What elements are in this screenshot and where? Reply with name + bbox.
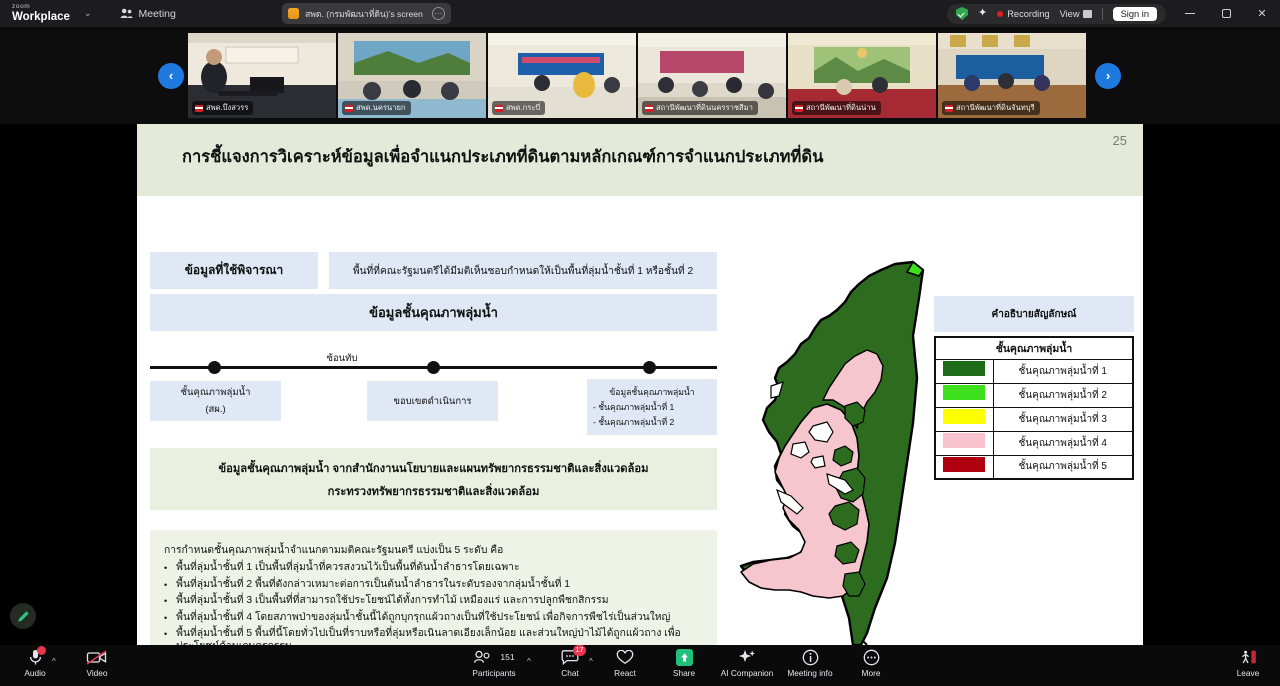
view-button[interactable]: View bbox=[1060, 9, 1092, 19]
box-d-line-1: ชั้นคุณภาพลุ่มน้ำ bbox=[181, 385, 251, 400]
toolbar-ai-companion-label: AI Companion bbox=[721, 668, 774, 678]
participant-nameplate: สพด.กระบี่ bbox=[492, 101, 545, 115]
shared-screen-tab[interactable]: สพด. (กรมพัฒนาที่ดิน)'s screen ··· bbox=[282, 3, 451, 24]
box-f-line-2: - ชั้นคุณภาพลุ่มน้ำที่ 2 bbox=[593, 415, 674, 429]
box-f-title: ข้อมูลชั้นคุณภาพลุ่มน้ำ bbox=[609, 385, 694, 399]
axis-node-1-icon bbox=[208, 361, 221, 374]
box-a-label: ข้อมูลที่ใช้พิจารณา bbox=[185, 261, 284, 280]
toolbar-participants[interactable]: 151 Participants bbox=[463, 648, 525, 678]
page-title: การชี้แจงการวิเคราะห์ข้อมูลเพื่อจำแนกประ… bbox=[182, 144, 823, 170]
video-off-icon bbox=[86, 648, 108, 666]
bullet-icon: • bbox=[164, 579, 167, 592]
ai-sparkle-icon[interactable]: ✦ bbox=[978, 8, 987, 19]
axis-node-3-icon bbox=[643, 361, 656, 374]
participant-name: สพด.นครนายก bbox=[356, 102, 406, 114]
recording-status: Recording bbox=[997, 9, 1049, 19]
participant-nameplate: สถานีพัฒนาที่ดินนครราชสีมา bbox=[642, 101, 758, 115]
zoom-wordmark: zoom bbox=[12, 4, 70, 11]
diagram-box-cabinet-resolution: พื้นที่ที่คณะรัฐมนตรีได้มีมติเห็นชอบกำหน… bbox=[329, 252, 717, 289]
list-item-text: พื้นที่ลุ่มน้ำชั้นที่ 2 พื้นที่ดังกล่าวเ… bbox=[176, 579, 570, 592]
list-item: • พื้นที่ลุ่มน้ำชั้นที่ 1 เป็นพื้นที่ลุ่… bbox=[164, 562, 705, 575]
list-item: • พื้นที่ลุ่มน้ำชั้นที่ 4 โดยสภาพป่าของล… bbox=[164, 612, 705, 625]
chat-icon: 17 bbox=[561, 648, 579, 666]
axis-node-2-icon bbox=[427, 361, 440, 374]
legend-row: ชั้นคุณภาพลุ่มน้ำที่ 2 bbox=[935, 383, 1133, 407]
divider bbox=[1102, 8, 1103, 20]
toolbar-meeting-info-label: Meeting info bbox=[787, 668, 832, 678]
participant-nameplate: สพด.บึงสวรร bbox=[192, 101, 253, 115]
participant-name: สถานีพัฒนาที่ดินนครราชสีมา bbox=[656, 102, 753, 114]
title-bar: zoom Workplace ⌄ Meeting สพด. (กรมพัฒนาท… bbox=[0, 0, 1280, 27]
presentation-slide: การชี้แจงการวิเคราะห์ข้อมูลเพื่อจำแนกประ… bbox=[137, 124, 1143, 645]
shared-screen-label: สพด. (กรมพัฒนาที่ดิน)'s screen bbox=[305, 7, 423, 21]
recording-label: Recording bbox=[1007, 9, 1049, 19]
watershed-levels-list: การกำหนดชั้นคุณภาพลุ่มน้ำจำแนกตามมติคณะร… bbox=[150, 530, 717, 645]
legend-row: ชั้นคุณภาพลุ่มน้ำที่ 1 bbox=[935, 359, 1133, 383]
info-icon bbox=[802, 648, 819, 666]
heart-icon bbox=[616, 648, 634, 666]
slide-body: ข้อมูลที่ใช้พิจารณา พื้นที่ที่คณะรัฐมนตร… bbox=[137, 196, 1143, 645]
people-glyph bbox=[120, 8, 133, 19]
toolbar-participants-label: Participants bbox=[472, 668, 515, 678]
flag-icon bbox=[645, 105, 653, 112]
participant-name: สพด.บึงสวรร bbox=[206, 102, 248, 114]
box-b-label: พื้นที่ที่คณะรัฐมนตรีได้มีมติเห็นชอบกำหน… bbox=[353, 263, 693, 279]
list-heading: การกำหนดชั้นคุณภาพลุ่มน้ำจำแนกตามมติคณะร… bbox=[164, 541, 705, 558]
bullet-icon: • bbox=[164, 595, 167, 608]
participant-thumbnail[interactable]: สถานีพัฒนาที่ดินน่าน bbox=[788, 33, 936, 118]
zoom-logo: zoom Workplace bbox=[12, 4, 70, 23]
status-pill: ✦ Recording View Sign in bbox=[947, 4, 1166, 24]
toolbar-leave-label: Leave bbox=[1237, 668, 1260, 678]
box-e-label: ขอบเขตดำเนินการ bbox=[393, 394, 471, 409]
participant-thumbnail[interactable]: สพด.บึงสวรร bbox=[188, 33, 336, 118]
flag-icon bbox=[945, 105, 953, 112]
toolbar-meeting-info[interactable]: Meeting info bbox=[779, 648, 841, 678]
participant-name: สถานีพัฒนาที่ดินน่าน bbox=[806, 102, 876, 114]
layout-grid-icon bbox=[1083, 10, 1092, 18]
slide-number: 25 bbox=[1113, 133, 1127, 148]
legend-swatch-cell bbox=[935, 431, 993, 455]
participant-nameplate: สถานีพัฒนาที่ดินจันทบุรี bbox=[942, 101, 1040, 115]
toolbar-audio[interactable]: Audio bbox=[4, 648, 66, 678]
flag-icon bbox=[345, 105, 353, 112]
diagram-box-watershed-output: ข้อมูลชั้นคุณภาพลุ่มน้ำ - ชั้นคุณภาพลุ่ม… bbox=[587, 379, 717, 435]
participant-thumbnail[interactable]: สถานีพัฒนาที่ดินจันทบุรี bbox=[938, 33, 1086, 118]
diagram-box-watershed-onep: ชั้นคุณภาพลุ่มน้ำ (สผ.) bbox=[150, 381, 281, 421]
chat-unread-badge: 17 bbox=[573, 645, 586, 656]
toolbar-more-label: More bbox=[862, 668, 881, 678]
legend-row: ชั้นคุณภาพลุ่มน้ำที่ 4 bbox=[935, 431, 1133, 455]
source-note-line-2: กระทรวงทรัพยากรธรรมชาติและสิ่งแวดล้อม bbox=[328, 482, 540, 500]
participant-nameplate: สพด.นครนายก bbox=[342, 101, 411, 115]
flag-icon bbox=[795, 105, 803, 112]
bullet-icon: • bbox=[164, 612, 167, 625]
legend-label: ชั้นคุณภาพลุ่มน้ำที่ 5 bbox=[993, 455, 1133, 479]
box-f-line-1: - ชั้นคุณภาพลุ่มน้ำที่ 1 bbox=[593, 400, 674, 414]
legend-color-swatch-3 bbox=[943, 409, 985, 424]
toolbar-ai-companion[interactable]: AI Companion bbox=[716, 648, 778, 678]
participant-thumbnail[interactable]: สพด.กระบี่ bbox=[488, 33, 636, 118]
participant-nameplate: สถานีพัฒนาที่ดินน่าน bbox=[792, 101, 881, 115]
slide-header: การชี้แจงการวิเคราะห์ข้อมูลเพื่อจำแนกประ… bbox=[137, 124, 1143, 196]
chevron-down-icon[interactable]: ⌄ bbox=[84, 8, 92, 19]
legend-label: ชั้นคุณภาพลุ่มน้ำที่ 4 bbox=[993, 431, 1133, 455]
tab-meeting-label: Meeting bbox=[139, 8, 176, 20]
maximize-button[interactable] bbox=[1208, 0, 1244, 27]
toolbar-react[interactable]: React bbox=[594, 648, 656, 678]
chat-options-caret-icon[interactable]: ^ bbox=[589, 657, 593, 666]
toolbar-share-label: Share bbox=[673, 668, 695, 678]
legend-color-swatch-5 bbox=[943, 457, 985, 472]
legend-swatch-cell bbox=[935, 455, 993, 479]
shield-check-icon[interactable] bbox=[956, 7, 968, 20]
audio-alert-badge bbox=[37, 646, 46, 655]
ai-sparkle-icon bbox=[737, 648, 757, 666]
zoom-window: zoom Workplace ⌄ Meeting สพด. (กรมพัฒนาท… bbox=[0, 0, 1280, 686]
box-d-line-2: (สผ.) bbox=[205, 402, 225, 417]
audio-options-caret-icon[interactable]: ^ bbox=[52, 657, 56, 666]
window-controls: ✕ bbox=[1172, 0, 1280, 27]
legend-color-swatch-1 bbox=[943, 361, 985, 376]
toolbar-react-label: React bbox=[614, 668, 636, 678]
legend-row: ชั้นคุณภาพลุ่มน้ำที่ 3 bbox=[935, 407, 1133, 431]
participants-icon: 151 bbox=[473, 648, 514, 666]
legend-swatch-cell bbox=[935, 383, 993, 407]
legend-table: ชั้นคุณภาพลุ่มน้ำ ชั้นคุณภาพลุ่มน้ำที่ 1… bbox=[934, 336, 1134, 480]
legend-label: ชั้นคุณภาพลุ่มน้ำที่ 3 bbox=[993, 407, 1133, 431]
participant-name: สถานีพัฒนาที่ดินจันทบุรี bbox=[956, 102, 1035, 114]
window-right-controls: ✦ Recording View Sign in ✕ bbox=[947, 0, 1280, 27]
tab-meeting[interactable]: Meeting bbox=[120, 8, 176, 20]
workplace-label: Workplace bbox=[12, 12, 70, 24]
list-item-text: พื้นที่ลุ่มน้ำชั้นที่ 1 เป็นพื้นที่ลุ่มน… bbox=[176, 562, 519, 575]
diagram-box-watershed-class-data: ข้อมูลชั้นคุณภาพลุ่มน้ำ bbox=[150, 294, 717, 331]
toolbar-video-label: Video bbox=[86, 668, 107, 678]
leave-meeting-icon bbox=[1239, 648, 1258, 666]
legend-header: ชั้นคุณภาพลุ่มน้ำ bbox=[935, 337, 1133, 359]
legend-label: ชั้นคุณภาพลุ่มน้ำที่ 1 bbox=[993, 359, 1133, 383]
flag-icon bbox=[195, 105, 203, 112]
filmstrip-next-button[interactable]: › bbox=[1095, 63, 1121, 89]
legend-color-swatch-4 bbox=[943, 433, 985, 448]
bullet-icon: • bbox=[164, 562, 167, 575]
diagram-box-operation-boundary: ขอบเขตดำเนินการ bbox=[367, 381, 498, 421]
more-icon bbox=[863, 648, 880, 666]
share-screen-icon bbox=[676, 648, 693, 666]
source-note-line-1: ข้อมูลชั้นคุณภาพลุ่มน้ำ จากสำนักงานนโยบา… bbox=[219, 459, 649, 477]
toolbar-share[interactable]: Share bbox=[653, 648, 715, 678]
legend-swatch-cell bbox=[935, 359, 993, 383]
legend-swatch-cell bbox=[935, 407, 993, 431]
legend-label: ชั้นคุณภาพลุ่มน้ำที่ 2 bbox=[993, 383, 1133, 407]
participant-name: สพด.กระบี่ bbox=[506, 102, 540, 114]
microphone-icon bbox=[28, 648, 43, 666]
legend-row: ชั้นคุณภาพลุ่มน้ำที่ 5 bbox=[935, 455, 1133, 479]
list-item-text: พื้นที่ลุ่มน้ำชั้นที่ 4 โดยสภาพป่าของลุ่… bbox=[176, 612, 670, 625]
list-item-text: พื้นที่ลุ่มน้ำชั้นที่ 3 เป็นพื้นที่ที่สา… bbox=[176, 595, 608, 608]
app-icon bbox=[288, 8, 299, 19]
participant-thumbnail[interactable]: สถานีพัฒนาที่ดินนครราชสีมา bbox=[638, 33, 786, 118]
box-c-label: ข้อมูลชั้นคุณภาพลุ่มน้ำ bbox=[369, 302, 498, 323]
participants-count: 151 bbox=[500, 652, 514, 662]
flag-icon bbox=[495, 105, 503, 112]
legend-caption: คำอธิบายสัญลักษณ์ bbox=[934, 296, 1134, 332]
list-item: • พื้นที่ลุ่มน้ำชั้นที่ 3 เป็นพื้นที่ที่… bbox=[164, 595, 705, 608]
minimize-button[interactable] bbox=[1172, 0, 1208, 27]
more-options-icon[interactable]: ··· bbox=[432, 7, 445, 20]
toolbar-chat-label: Chat bbox=[561, 668, 579, 678]
meeting-toolbar: Audio ^ Video 151 bbox=[0, 645, 1280, 686]
legend-color-swatch-2 bbox=[943, 385, 985, 400]
participants-options-caret-icon[interactable]: ^ bbox=[527, 657, 531, 666]
annotate-button[interactable] bbox=[10, 603, 36, 629]
toolbar-more[interactable]: More bbox=[840, 648, 902, 678]
close-button[interactable]: ✕ bbox=[1244, 0, 1280, 27]
toolbar-video[interactable]: Video bbox=[66, 648, 128, 678]
toolbar-audio-label: Audio bbox=[24, 668, 45, 678]
filmstrip-prev-button[interactable]: ‹ bbox=[158, 63, 184, 89]
people-icon bbox=[120, 8, 133, 19]
list-item: • พื้นที่ลุ่มน้ำชั้นที่ 2 พื้นที่ดังกล่า… bbox=[164, 579, 705, 592]
watershed-map bbox=[717, 258, 947, 645]
diagram-box-data-considered: ข้อมูลที่ใช้พิจารณา bbox=[150, 252, 318, 289]
recording-dot-icon bbox=[997, 11, 1003, 17]
toolbar-leave[interactable]: Leave bbox=[1217, 648, 1279, 678]
video-thumbnail-strip: ‹ สพด.บึงสวรร bbox=[0, 27, 1280, 124]
shared-content-stage: การชี้แจงการวิเคราะห์ข้อมูลเพื่อจำแนกประ… bbox=[0, 124, 1280, 645]
axis-overlay-label: ซ้อนทับ bbox=[282, 351, 402, 366]
pencil-icon bbox=[16, 609, 31, 624]
sign-in-button[interactable]: Sign in bbox=[1113, 7, 1157, 21]
source-note-box: ข้อมูลชั้นคุณภาพลุ่มน้ำ จากสำนักงานนโยบา… bbox=[150, 448, 717, 510]
map-svg bbox=[717, 258, 947, 645]
legend-header-row: ชั้นคุณภาพลุ่มน้ำ bbox=[935, 337, 1133, 359]
thumbnail-list: สพด.บึงสวรร สพด.นครนายก bbox=[188, 33, 1086, 118]
participant-thumbnail[interactable]: สพด.นครนายก bbox=[338, 33, 486, 118]
view-label: View bbox=[1060, 9, 1080, 19]
